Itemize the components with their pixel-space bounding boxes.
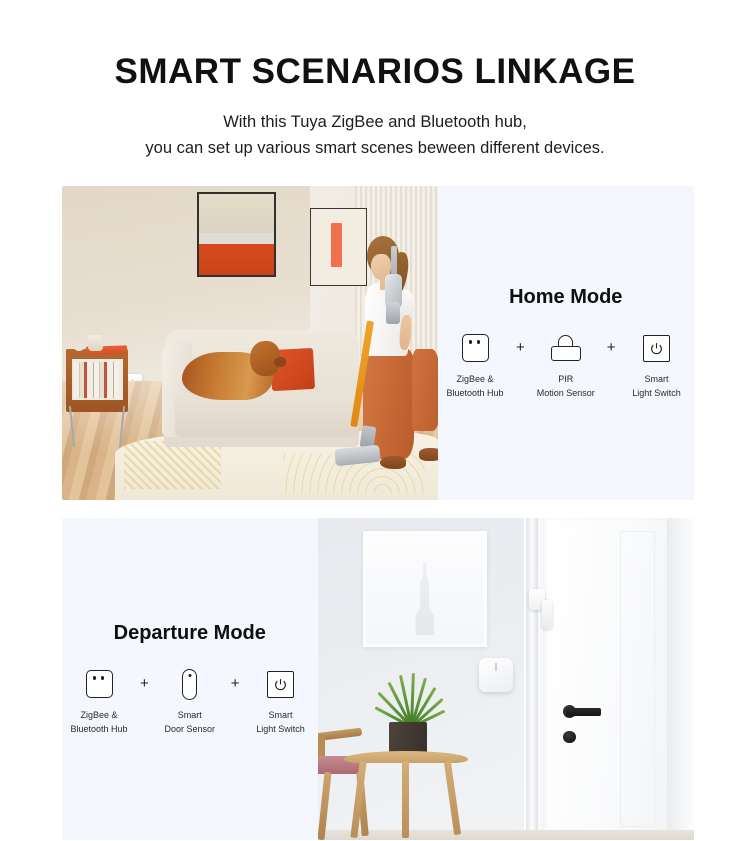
door-handle-lever [566,708,602,716]
plus-separator: + [140,676,149,691]
home-mode-device-combo: ZigBee & Bluetooth Hub + PIR Motion Sens… [438,331,694,399]
wall-mounted-hub-device [479,658,513,692]
abstract-painting-small [310,208,366,287]
departure-mode-device-combo: ZigBee & Bluetooth Hub + Smart Door Sens… [62,667,318,735]
departure-mode-title: Departure Mode [114,622,266,645]
painting-mid-band [199,233,274,244]
artwork-tower-shape [415,562,434,635]
subtitle-line-1: With this Tuya ZigBee and Bluetooth hub, [0,110,750,136]
pir-motion-sensor-icon [550,331,582,365]
device-smart-light-switch[interactable]: Smart Light Switch [620,331,694,399]
home-mode-panel: Home Mode ZigBee & Bluetooth Hub + [438,186,694,500]
woman-shoe-left [380,456,406,469]
plus-separator: + [516,340,525,355]
living-room-photo [62,186,438,500]
door-sensor-main-piece [542,600,553,629]
device-smart-light-switch[interactable]: Smart Light Switch [244,667,318,735]
device-label: ZigBee & Bluetooth Hub [446,373,503,399]
page-title: SMART SCENARIOS LINKAGE [0,52,750,92]
abstract-painting-large [197,192,276,277]
smart-light-switch-icon [267,667,294,701]
door-jamb [526,518,538,840]
woman-pants-right-leg [412,349,438,431]
empire-state-artwork [363,531,487,647]
departure-mode-panel: Departure Mode ZigBee & Bluetooth Hub + … [62,518,318,840]
plus-separator: + [607,340,616,355]
home-mode-title: Home Mode [509,286,622,309]
page-subtitle: With this Tuya ZigBee and Bluetooth hub,… [0,110,750,161]
subtitle-line-2: you can set up various smart scenes bewe… [0,136,750,162]
sofa-seat-cushion [175,393,359,437]
candle-on-table [88,335,103,351]
smart-scenarios-page: SMART SCENARIOS LINKAGE With this Tuya Z… [0,0,750,841]
page-header: SMART SCENARIOS LINKAGE With this Tuya Z… [0,0,750,161]
painting-sky-band [199,194,274,233]
device-label: PIR Motion Sensor [537,373,595,399]
device-zigbee-bluetooth-hub[interactable]: ZigBee & Bluetooth Hub [62,667,136,735]
small-bowl-on-table [73,340,84,351]
side-table-leg [402,761,409,838]
zigbee-bluetooth-hub-icon [86,667,113,701]
scene-row-home-mode: Home Mode ZigBee & Bluetooth Hub + [62,186,688,500]
side-table-legs [66,406,128,447]
entry-floor [318,830,694,840]
painting-orange-band [199,244,274,275]
device-pir-motion-sensor[interactable]: PIR Motion Sensor [529,331,603,399]
woman-shoe-right [419,448,438,461]
zigbee-bluetooth-hub-icon [462,331,489,365]
smart-light-switch-icon [643,331,670,365]
plant-pot [389,722,427,753]
golden-retriever-snout [274,357,287,367]
scene-row-departure-mode: Departure Mode ZigBee & Bluetooth Hub + … [62,518,688,840]
device-zigbee-bluetooth-hub[interactable]: ZigBee & Bluetooth Hub [438,331,512,399]
painting-orange-bar [331,223,342,267]
device-smart-door-sensor[interactable]: Smart Door Sensor [153,667,227,735]
entry-door-photo [318,518,694,840]
door-right-edge [667,518,693,840]
plus-separator: + [231,676,240,691]
device-label: ZigBee & Bluetooth Hub [70,709,127,735]
device-label: Smart Light Switch [256,709,305,735]
door-panel-moulding [620,531,655,827]
smart-door-sensor-icon [182,667,197,701]
vacuum-dust-bin [386,302,400,324]
palm-plant-leaves [363,660,457,728]
device-label: Smart Light Switch [632,373,681,399]
books-on-shelf [74,362,119,398]
white-door [543,518,667,840]
device-label: Smart Door Sensor [165,709,216,735]
